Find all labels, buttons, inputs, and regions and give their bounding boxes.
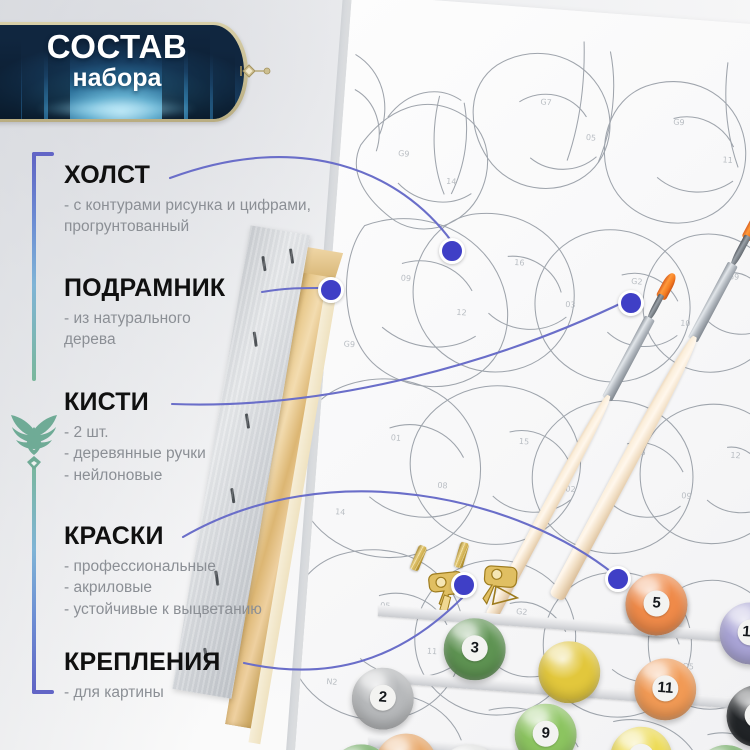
svg-text:09: 09 — [401, 273, 412, 283]
svg-text:03: 03 — [565, 300, 576, 310]
svg-text:05: 05 — [586, 133, 597, 143]
paint-pot[interactable]: 16 — [693, 743, 750, 750]
section-description: - из натурального дерева — [64, 308, 225, 351]
paint-pot-number: 11 — [651, 674, 679, 702]
section-description: - 2 шт. - деревянные ручки - нейлоновые — [64, 422, 206, 486]
paint-pot-tray: 5 12 3 11 17 2 1 9 10 16 8 15 — [377, 560, 750, 750]
section-heading: КРЕПЛЕНИЯ — [64, 650, 221, 675]
paint-pot-number: 9 — [532, 720, 560, 748]
staple-icon — [245, 413, 250, 428]
paint-pot[interactable]: 11 — [632, 656, 698, 722]
section-line: дерева — [64, 329, 225, 350]
section-description: - для картины — [64, 682, 221, 703]
paint-pot-number: 12 — [737, 618, 750, 646]
paint-pot-number: 3 — [461, 634, 489, 662]
svg-text:01: 01 — [391, 433, 402, 443]
section-heading: ПОДРАМНИК — [64, 276, 225, 301]
section-line: - из натурального — [64, 308, 225, 329]
section-stretcher: ПОДРАМНИК - из натурального дерева — [64, 276, 225, 351]
section-line: - для картины — [64, 682, 221, 703]
svg-text:08: 08 — [437, 481, 448, 491]
section-line: - устойчивые к выцветанию — [64, 599, 262, 620]
paint-pot[interactable]: 17 — [724, 683, 750, 749]
svg-text:G9: G9 — [343, 339, 355, 349]
svg-text:G2: G2 — [631, 277, 643, 287]
paint-pot-number: 17 — [744, 701, 750, 729]
mist-glow — [9, 91, 223, 117]
section-line: - деревянные ручки — [64, 443, 206, 464]
section-heading: КИСТИ — [64, 390, 206, 415]
section-description: - профессиональные - акриловые - устойчи… — [64, 556, 262, 620]
infographic-stage: G914 0912 G705 G911 1603 G210 G917 0108 … — [0, 0, 750, 750]
svg-text:10: 10 — [680, 319, 691, 329]
section-description: - с контурами рисунка и цифрами, прогрун… — [64, 195, 311, 238]
svg-text:11: 11 — [722, 155, 733, 165]
diamond-finial-icon — [240, 54, 274, 88]
header-banner: СОСТАВ набора — [0, 22, 248, 122]
svg-text:G7: G7 — [540, 97, 552, 107]
staple-icon — [261, 256, 266, 271]
banner-title-group: СОСТАВ набора — [0, 30, 248, 92]
section-line: - 2 шт. — [64, 422, 206, 443]
bracket-arm-bottom — [32, 690, 54, 694]
section-mounts: КРЕПЛЕНИЯ - для картины — [64, 650, 221, 703]
banner-title-line2: набора — [0, 64, 248, 93]
staple-icon — [230, 488, 235, 503]
paint-pot-number: 10 — [627, 743, 655, 750]
bracket-arm-top — [32, 152, 54, 156]
paint-pot[interactable]: 12 — [717, 600, 750, 666]
svg-text:14: 14 — [446, 177, 457, 187]
bracket-line-top — [32, 152, 36, 381]
section-brushes: КИСТИ - 2 шт. - деревянные ручки - нейло… — [64, 390, 206, 486]
bracket-line-bottom — [32, 462, 36, 694]
staple-icon — [253, 332, 258, 347]
svg-text:12: 12 — [730, 451, 741, 461]
paint-pot[interactable]: 10 — [608, 725, 674, 750]
svg-text:15: 15 — [519, 437, 530, 447]
section-line: - нейлоновые — [64, 465, 206, 486]
svg-text:G9: G9 — [673, 117, 685, 127]
svg-text:16: 16 — [514, 258, 525, 268]
winged-crest-icon — [5, 400, 63, 472]
section-heading: КРАСКИ — [64, 524, 262, 549]
section-line: - с контурами рисунка и цифрами, — [64, 195, 311, 216]
svg-text:G9: G9 — [398, 149, 410, 159]
svg-text:14: 14 — [335, 507, 346, 517]
paint-pot[interactable]: 3 — [441, 616, 507, 682]
section-line: - профессиональные — [64, 556, 262, 577]
svg-text:N2: N2 — [326, 677, 338, 687]
svg-text:09: 09 — [681, 491, 692, 501]
paint-pot-number: 5 — [643, 589, 671, 617]
paint-pot[interactable]: 9 — [512, 702, 578, 750]
section-line: - акриловые — [64, 577, 262, 598]
section-canvas: ХОЛСТ - с контурами рисунка и цифрами, п… — [64, 163, 311, 238]
svg-text:12: 12 — [456, 308, 467, 318]
section-heading: ХОЛСТ — [64, 163, 311, 188]
section-line: прогрунтованный — [64, 216, 311, 237]
banner-title-line1: СОСТАВ — [0, 30, 248, 65]
section-paints: КРАСКИ - профессиональные - акриловые - … — [64, 524, 262, 620]
staple-icon — [289, 248, 294, 263]
paint-pot-number: 2 — [369, 684, 397, 712]
